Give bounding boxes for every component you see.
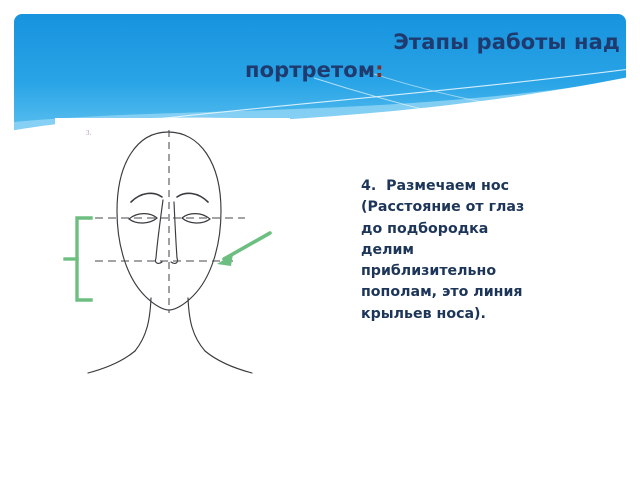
page-title-colon: : xyxy=(375,58,384,82)
picture-background xyxy=(55,118,290,380)
page-title-line-1: Этапы работы над xyxy=(245,28,620,56)
slide-canvas: Этапы работы над портретом: 4. Размечаем… xyxy=(0,0,640,480)
body-paragraph: 4. Размечаем нос (Расстояние от глаз до … xyxy=(361,176,541,325)
face-proportions-diagram xyxy=(55,118,290,380)
page-title-line-2-text: портретом xyxy=(245,58,375,82)
page-title-line-2: портретом: xyxy=(245,56,620,84)
page-title: Этапы работы над портретом: xyxy=(245,28,620,84)
picture-number-marker: 3. xyxy=(86,129,91,137)
